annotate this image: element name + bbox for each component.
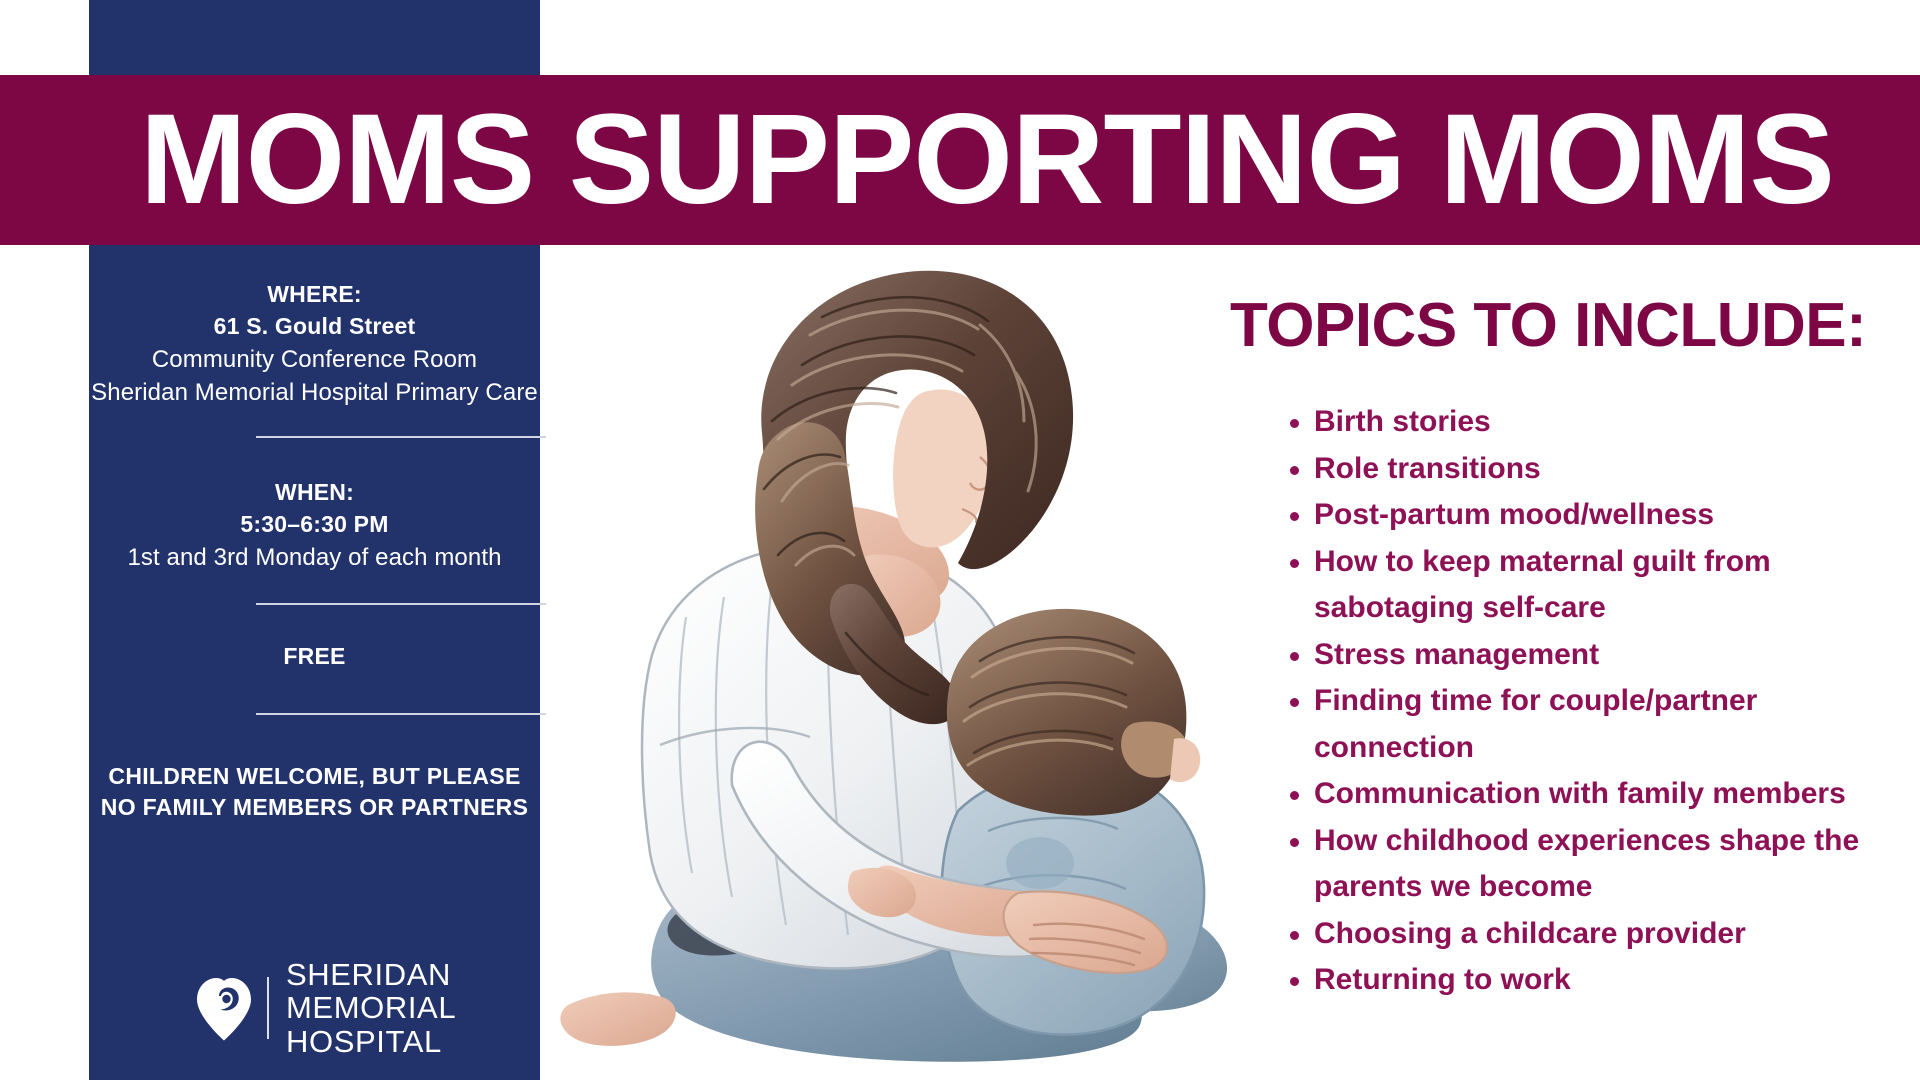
when-time-line: 5:30–6:30 PM bbox=[89, 513, 540, 536]
topic-list-item: Choosing a childcare provider bbox=[1230, 911, 1890, 958]
where-facility-line: Sheridan Memorial Hospital Primary Care bbox=[89, 381, 540, 405]
topic-list-item: Birth stories bbox=[1230, 399, 1890, 446]
topics-heading: TOPICS TO INCLUDE: bbox=[1230, 295, 1890, 357]
topic-list-item: How childhood experiences shape the pare… bbox=[1230, 818, 1890, 911]
page-title: MOMS SUPPORTING MOMS bbox=[140, 96, 1834, 224]
when-frequency-line: 1st and 3rd Monday of each month bbox=[89, 546, 540, 570]
title-banner: MOMS SUPPORTING MOMS bbox=[0, 75, 1920, 245]
topic-list-item: How to keep maternal guilt from sabotagi… bbox=[1230, 539, 1890, 632]
topic-list-item: Returning to work bbox=[1230, 957, 1890, 1004]
topic-list-item: Role transitions bbox=[1230, 446, 1890, 493]
heart-swirl-icon bbox=[195, 975, 253, 1041]
hospital-logo: SHERIDAN MEMORIAL HOSPITAL bbox=[195, 958, 540, 1058]
topics-list: Birth storiesRole transitionsPost-partum… bbox=[1230, 399, 1890, 1004]
topic-list-item: Communication with family members bbox=[1230, 771, 1890, 818]
cost-label: FREE bbox=[89, 645, 540, 668]
logo-name-line-two: MEMORIAL HOSPITAL bbox=[286, 991, 540, 1058]
divider-two bbox=[256, 603, 546, 605]
topics-section: TOPICS TO INCLUDE: Birth storiesRole tra… bbox=[1230, 295, 1890, 1004]
watercolor-mother-and-child-illustration bbox=[510, 225, 1290, 1080]
where-address-line: 61 S. Gould Street bbox=[89, 315, 540, 338]
where-label: WHERE: bbox=[89, 283, 540, 306]
topic-list-item: Finding time for couple/partner connecti… bbox=[1230, 678, 1890, 771]
logo-separator bbox=[267, 977, 269, 1039]
logo-wordmark: SHERIDAN MEMORIAL HOSPITAL bbox=[286, 958, 540, 1058]
notice-line-one: CHILDREN WELCOME, BUT PLEASE bbox=[89, 765, 540, 788]
flyer-poster: WHERE: 61 S. Gould Street Community Conf… bbox=[0, 0, 1920, 1080]
topic-list-item: Stress management bbox=[1230, 632, 1890, 679]
notice-line-two: NO FAMILY MEMBERS OR PARTNERS bbox=[89, 796, 540, 819]
topic-list-item: Post-partum mood/wellness bbox=[1230, 492, 1890, 539]
divider-three bbox=[256, 713, 546, 715]
logo-name-line-one: SHERIDAN bbox=[286, 958, 540, 991]
when-label: WHEN: bbox=[89, 481, 540, 504]
where-room-line: Community Conference Room bbox=[89, 348, 540, 372]
divider-one bbox=[256, 436, 546, 438]
